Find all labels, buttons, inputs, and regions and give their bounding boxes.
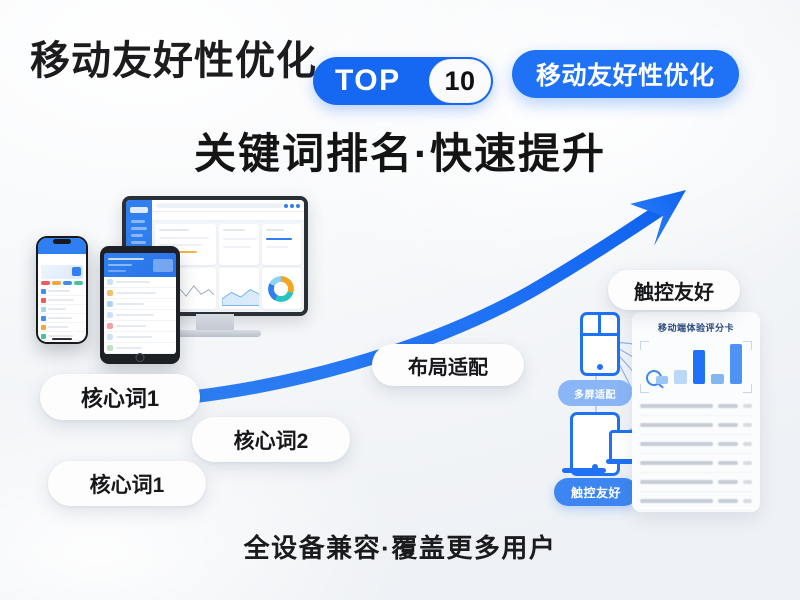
footer-tagline: 全设备兼容·覆盖更多用户 [0, 528, 800, 565]
bar-c3 [693, 350, 705, 384]
bar-c2 [674, 370, 686, 384]
bar-c4 [711, 374, 723, 384]
mini-phone-icon [580, 312, 620, 376]
score-row-value [718, 480, 738, 484]
donut-chart-icon [262, 268, 301, 309]
score-row [640, 492, 752, 511]
poster-canvas: 多屏适配 触控友好 移动端体验评分卡 移动友好性优化 TOP 10 移动友好性优… [0, 0, 800, 600]
score-row-label [640, 480, 713, 484]
score-row-delta [743, 442, 752, 446]
layout-adapt-pill[interactable]: 布局适配 [372, 344, 524, 386]
score-row-label [640, 423, 713, 427]
score-row-label [640, 404, 713, 408]
score-row-delta [743, 404, 752, 408]
score-row [640, 397, 752, 416]
score-row-label [640, 461, 713, 465]
score-row-delta [743, 499, 752, 503]
device-mockup-cluster [28, 196, 328, 396]
top-rank-number: 10 [444, 66, 475, 97]
top-label: TOP [335, 64, 401, 98]
score-row [640, 416, 752, 435]
phone-mockup [36, 236, 88, 344]
score-row [640, 454, 752, 473]
bar-c1 [656, 376, 668, 384]
bar-series [656, 344, 742, 384]
score-row-delta [743, 480, 752, 484]
score-row-delta [743, 423, 752, 427]
touch-friendly-feature-pill[interactable]: 触控友好 [608, 270, 740, 310]
score-row [640, 473, 752, 492]
score-row-value [718, 499, 738, 503]
page-subtitle: 关键词排名·快速提升 [0, 120, 800, 181]
bar-c5 [730, 344, 742, 384]
score-row [640, 435, 752, 454]
score-row-value [718, 423, 738, 427]
score-row-value [718, 442, 738, 446]
top-rank-badge: TOP 10 [313, 57, 493, 105]
mobile-experience-panel: 多屏适配 触控友好 移动端体验评分卡 [548, 306, 764, 518]
score-row-delta [743, 461, 752, 465]
score-chart [640, 341, 752, 393]
page-title: 移动友好性优化 [30, 28, 317, 86]
touch-friendly-pill[interactable]: 触控友好 [554, 478, 638, 506]
keyword-pill-2[interactable]: 核心词2 [192, 417, 350, 462]
mobile-friendly-tag-label: 移动友好性优化 [536, 56, 715, 92]
score-row-label [640, 442, 713, 446]
score-card: 移动端体验评分卡 [632, 312, 760, 512]
mobile-friendly-tag[interactable]: 移动友好性优化 [512, 50, 739, 98]
keyword-pill-1[interactable]: 核心词1 [40, 374, 200, 420]
multi-screen-pill[interactable]: 多屏适配 [558, 380, 632, 406]
score-card-title: 移动端体验评分卡 [632, 321, 760, 334]
tablet-mockup [100, 246, 180, 364]
score-row-value [718, 461, 738, 465]
score-row-value [718, 404, 738, 408]
device-stand [562, 468, 606, 473]
score-row-label [640, 499, 713, 503]
score-row-list [640, 397, 752, 511]
keyword-pill-3[interactable]: 核心词1 [48, 461, 206, 506]
